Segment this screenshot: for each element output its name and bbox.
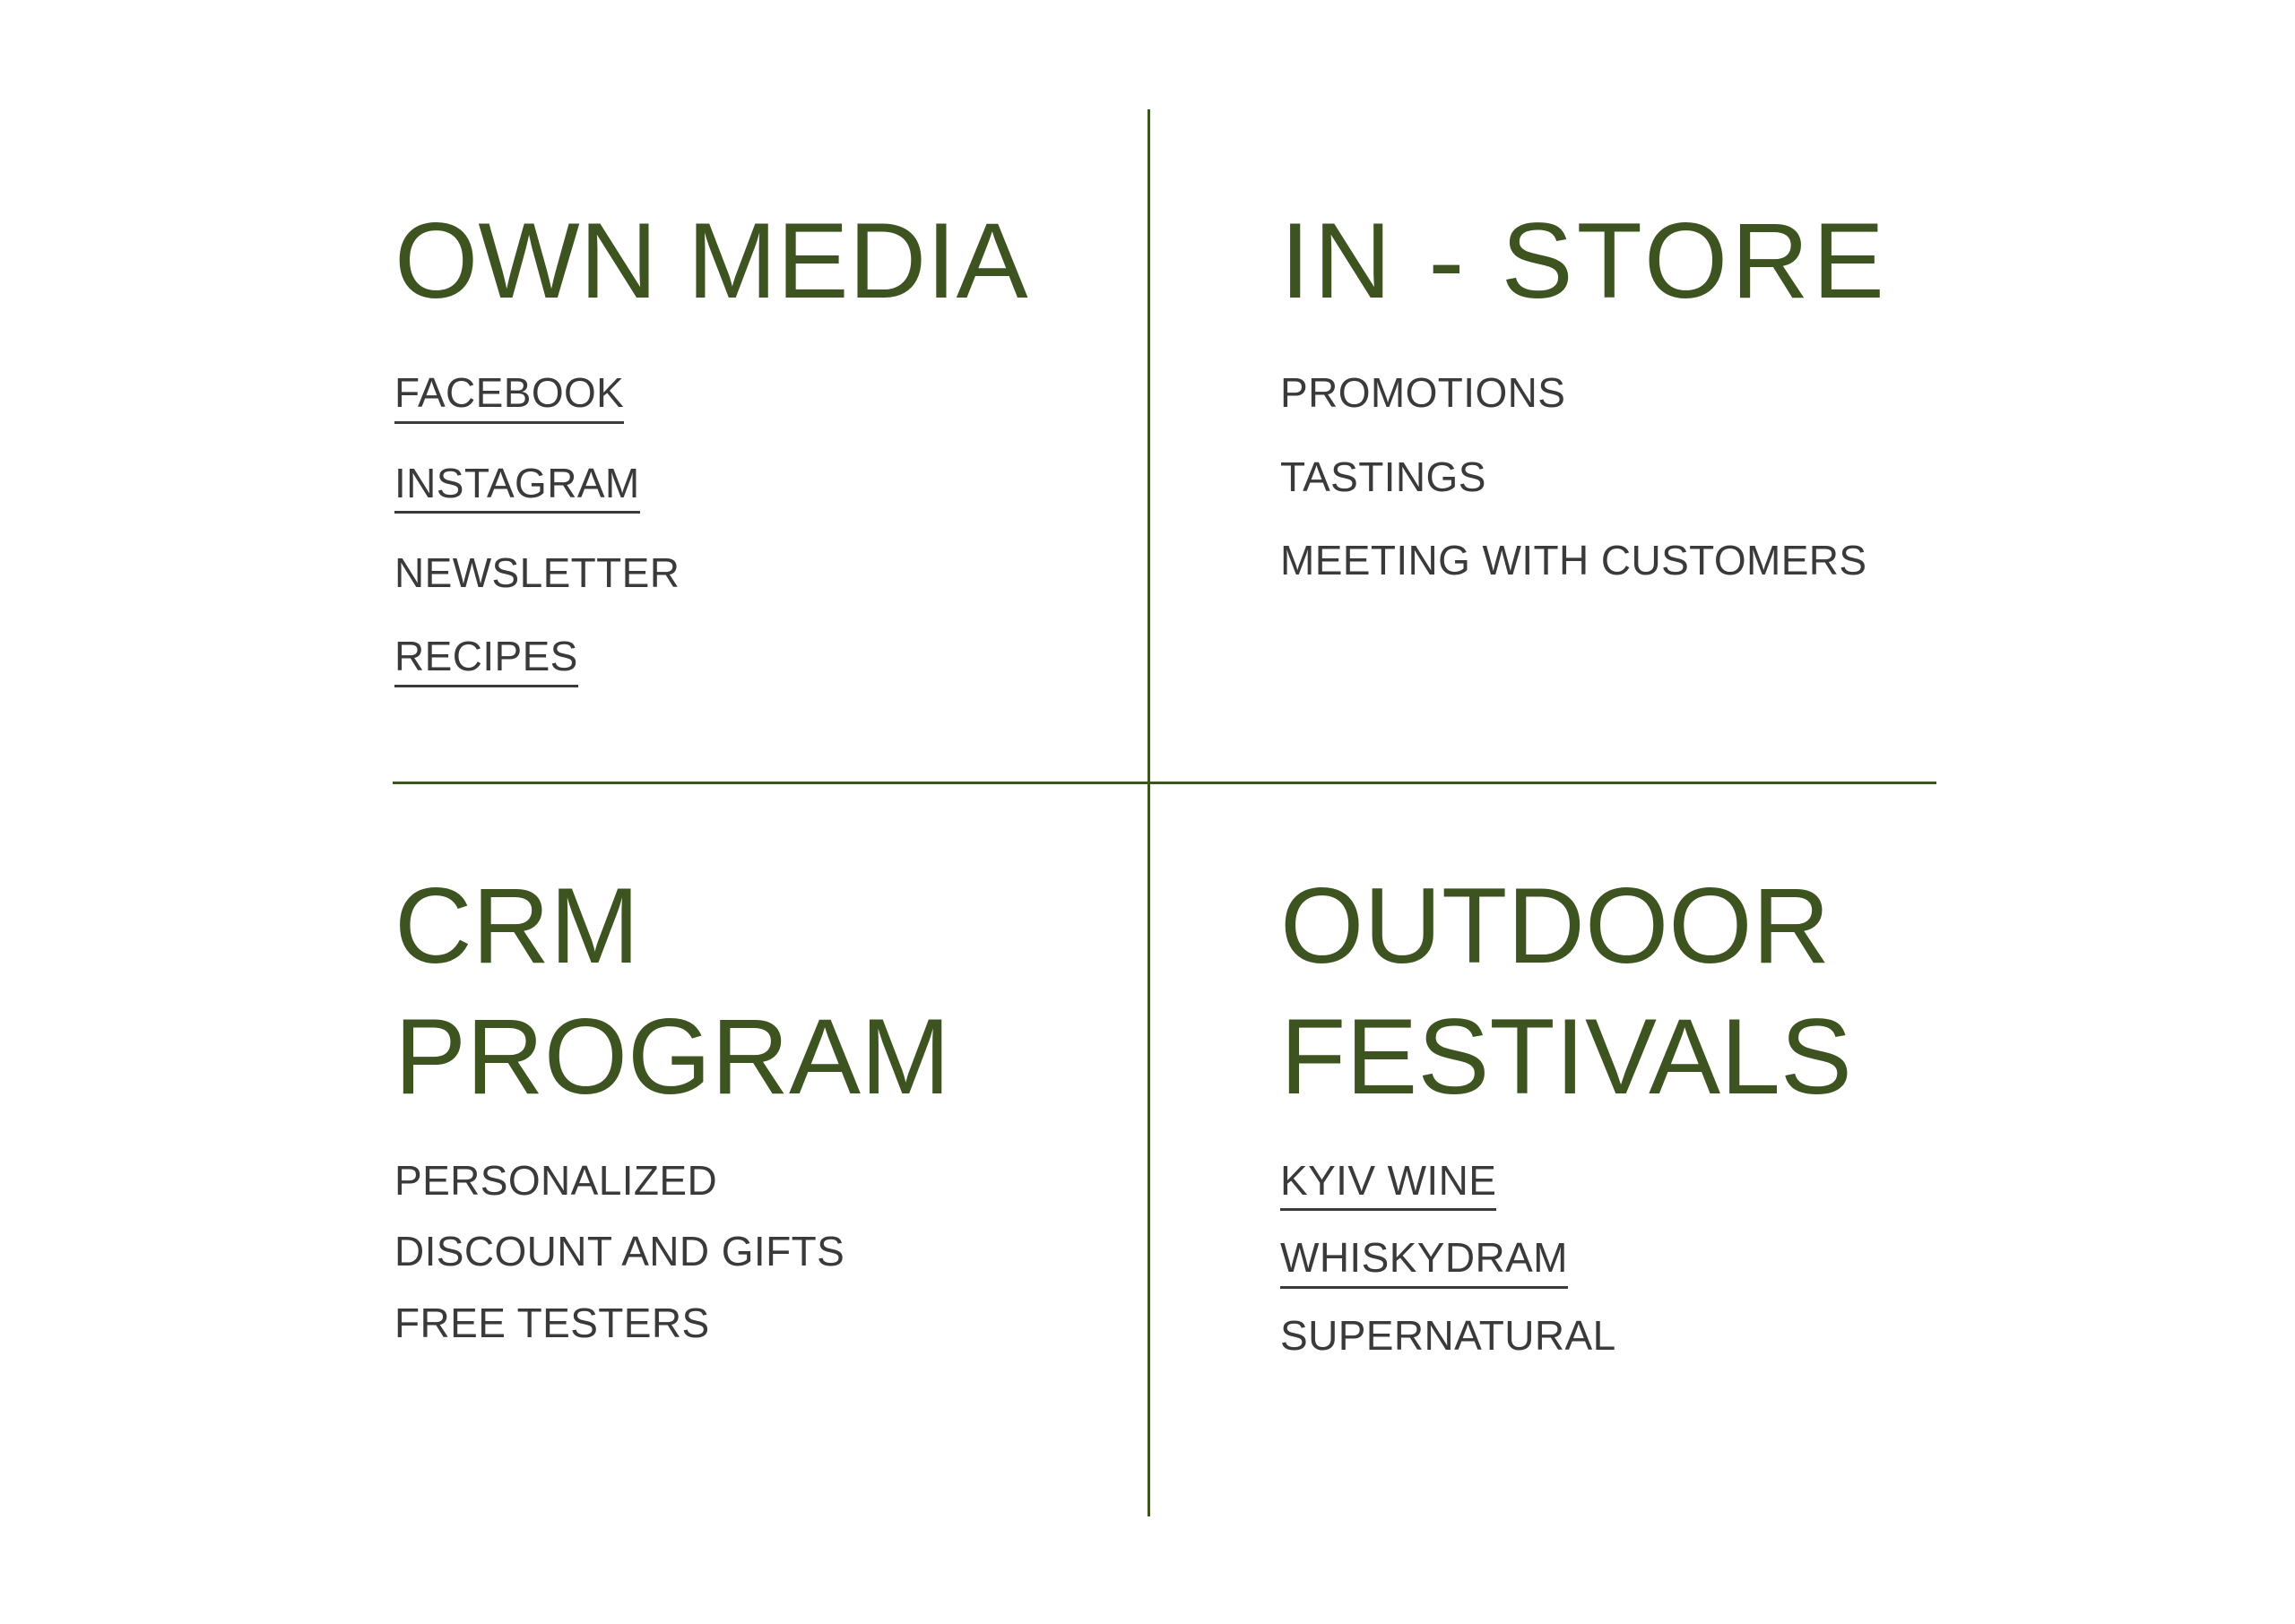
quadrant-diagram-canvas: OWN MEDIA FACEBOOK INSTAGRAM NEWSLETTER …	[0, 0, 2295, 1624]
list-item[interactable]: WHISKYDRAM	[1280, 1234, 2087, 1288]
list-item[interactable]: FACEBOOK	[394, 369, 1112, 423]
quadrant-crm-program: CRM PROGRAM PERSONALIZED DISCOUNT AND GI…	[394, 860, 1112, 1370]
item-list-outdoor-festivals: KYIV WINE WHISKYDRAM SUPERNATURAL	[1280, 1157, 2087, 1360]
quadrant-heading-crm-program: CRM PROGRAM	[394, 860, 1112, 1123]
list-item: PROMOTIONS	[1280, 369, 2087, 417]
list-item-label: TASTINGS	[1280, 454, 1486, 501]
item-list-crm-program: PERSONALIZED DISCOUNT AND GIFTS FREE TES…	[394, 1157, 1112, 1347]
list-item-label: NEWSLETTER	[394, 549, 680, 597]
list-item: DISCOUNT AND GIFTS	[394, 1228, 1112, 1275]
list-item-label: INSTAGRAM	[394, 460, 640, 514]
list-item: FREE TESTERS	[394, 1300, 1112, 1347]
vertical-divider	[1147, 109, 1150, 1516]
list-item: TASTINGS	[1280, 454, 2087, 501]
list-item[interactable]: RECIPES	[394, 633, 1112, 687]
quadrant-heading-in-store: IN - STORE	[1280, 195, 2087, 326]
quadrant-own-media: OWN MEDIA FACEBOOK INSTAGRAM NEWSLETTER …	[394, 195, 1112, 723]
horizontal-divider	[393, 782, 1936, 784]
list-item-label: PERSONALIZED	[394, 1157, 717, 1205]
list-item-label: MEETING WITH CUSTOMERS	[1280, 537, 1867, 584]
quadrant-heading-own-media: OWN MEDIA	[394, 195, 1112, 326]
list-item: MEETING WITH CUSTOMERS	[1280, 537, 2087, 584]
list-item-label: RECIPES	[394, 633, 578, 687]
list-item-label: DISCOUNT AND GIFTS	[394, 1228, 844, 1275]
list-item-label: KYIV WINE	[1280, 1157, 1496, 1211]
list-item-label: FACEBOOK	[394, 369, 624, 423]
list-item-label: SUPERNATURAL	[1280, 1312, 1616, 1360]
list-item: SUPERNATURAL	[1280, 1312, 2087, 1360]
list-item[interactable]: INSTAGRAM	[394, 460, 1112, 514]
list-item-label: WHISKYDRAM	[1280, 1234, 1568, 1288]
list-item: NEWSLETTER	[394, 549, 1112, 597]
item-list-in-store: PROMOTIONS TASTINGS MEETING WITH CUSTOME…	[1280, 369, 2087, 584]
quadrant-in-store: IN - STORE PROMOTIONS TASTINGS MEETING W…	[1280, 195, 2087, 620]
quadrant-heading-outdoor-festivals: OUTDOOR FESTIVALS	[1280, 860, 2087, 1123]
list-item-label: PROMOTIONS	[1280, 369, 1565, 417]
list-item: PERSONALIZED	[394, 1157, 1112, 1205]
item-list-own-media: FACEBOOK INSTAGRAM NEWSLETTER RECIPES	[394, 369, 1112, 687]
list-item[interactable]: KYIV WINE	[1280, 1157, 2087, 1211]
quadrant-outdoor-festivals: OUTDOOR FESTIVALS KYIV WINE WHISKYDRAM S…	[1280, 860, 2087, 1383]
list-item-label: FREE TESTERS	[394, 1300, 710, 1347]
